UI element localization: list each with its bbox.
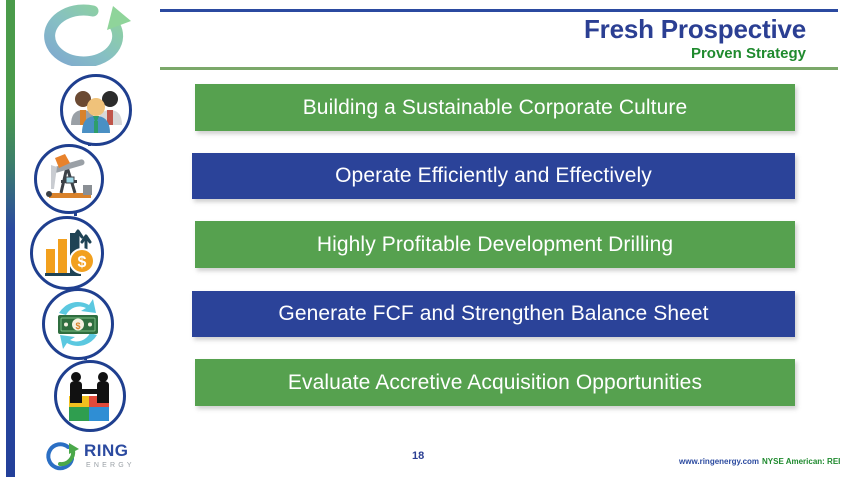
strategy-bar-3[interactable]: Highly Profitable Development Drilling: [195, 221, 795, 268]
page-number: 18: [412, 450, 424, 462]
strategy-bar-2[interactable]: Operate Efficiently and Effectively: [192, 153, 795, 199]
strategy-bar-5[interactable]: Evaluate Accretive Acquisition Opportuni…: [195, 359, 795, 406]
strategy-bar-5-label: Evaluate Accretive Acquisition Opportuni…: [288, 371, 702, 395]
slide-fresh-prospective: $ $: [0, 0, 848, 477]
strategy-bar-1[interactable]: Building a Sustainable Corporate Culture: [195, 84, 795, 131]
strategy-bar-4-label: Generate FCF and Strengthen Balance Shee…: [278, 302, 708, 326]
svg-text:RING: RING: [84, 441, 129, 460]
strategy-bar-3-label: Highly Profitable Development Drilling: [317, 233, 673, 257]
footer-stock-ticker: NYSE American: REI: [762, 457, 840, 466]
strategy-bar-1-label: Building a Sustainable Corporate Culture: [303, 96, 688, 120]
svg-text:ENERGY: ENERGY: [86, 462, 135, 469]
strategy-bar-list: Building a Sustainable Corporate Culture…: [0, 0, 848, 477]
strategy-bar-4[interactable]: Generate FCF and Strengthen Balance Shee…: [192, 291, 795, 337]
footer-website-url[interactable]: www.ringenergy.com: [679, 457, 759, 466]
strategy-bar-2-label: Operate Efficiently and Effectively: [335, 164, 652, 188]
ring-energy-footer-logo: RING ENERGY: [42, 437, 162, 473]
